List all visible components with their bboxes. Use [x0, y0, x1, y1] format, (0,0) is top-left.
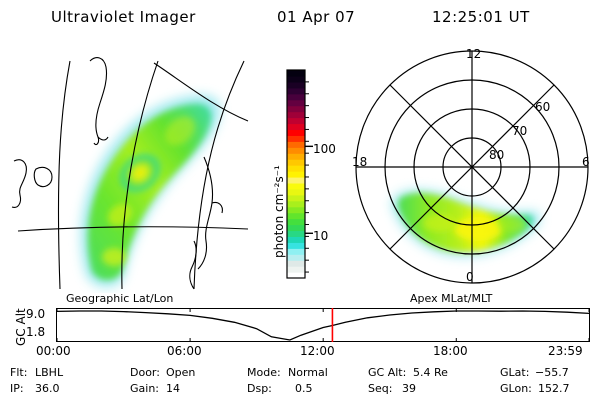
- colorbar-gradient: [287, 70, 305, 279]
- geographic-image-panel[interactable]: [8, 45, 256, 293]
- orbit-x-tick-4: 23:59: [548, 344, 583, 358]
- status-gain-label: Gain:: [130, 382, 159, 395]
- status-dsp-value: 0.5: [295, 382, 313, 395]
- status-door-value: Open: [166, 366, 195, 379]
- mlt-label-0: 0: [466, 270, 474, 284]
- mlat-label-80: 80: [489, 148, 504, 162]
- status-glat-label: GLat:: [500, 366, 529, 379]
- status-gcalt-label: GC Alt:: [368, 366, 406, 379]
- status-ip-value: 36.0: [35, 382, 60, 395]
- status-door-label: Door:: [130, 366, 160, 379]
- orbit-altitude-plot[interactable]: [56, 308, 590, 342]
- status-ip-label: IP:: [10, 382, 24, 395]
- status-seq-value: 39: [402, 382, 416, 395]
- status-mode-value: Normal: [288, 366, 328, 379]
- orbit-x-tick-3: 18:00: [433, 344, 468, 358]
- page-title: Ultraviolet Imager: [51, 8, 196, 26]
- orbit-x-tick-2: 12:00: [300, 344, 335, 358]
- status-flt-label: Flt:: [10, 366, 27, 379]
- orbit-y-tick-max: 9.0: [26, 307, 45, 321]
- colorbar-minor-ticks: [305, 82, 309, 272]
- right-panel-caption: Apex MLat/MLT: [410, 292, 492, 305]
- orbit-x-tick-0: 00:00: [36, 344, 71, 358]
- status-seq-label: Seq:: [368, 382, 392, 395]
- orbit-y-tick-min: 1.8: [26, 325, 45, 339]
- uvi-summary-screen: Ultraviolet Imager 01 Apr 07 12:25:01 UT: [0, 0, 600, 400]
- colorbar-tick-label-10: 10: [313, 229, 328, 243]
- observation-time: 12:25:01 UT: [432, 8, 530, 26]
- colorbar-tick-label-100: 100: [313, 142, 336, 156]
- status-glon-label: GLon:: [500, 382, 532, 395]
- polar-grid: [356, 51, 588, 283]
- colorbar-axis-label: photon cm⁻²s⁻¹: [272, 165, 286, 258]
- mlt-label-18: 18: [352, 155, 367, 169]
- colorbar-major-ticks: [305, 146, 313, 233]
- mlt-label-12: 12: [466, 47, 481, 61]
- mlt-label-6: 6: [582, 155, 590, 169]
- status-glat-value: −55.7: [535, 366, 569, 379]
- status-glon-value: 152.7: [538, 382, 570, 395]
- status-gcalt-value: 5.4 Re: [413, 366, 448, 379]
- status-dsp-label: Dsp:: [247, 382, 272, 395]
- observation-date: 01 Apr 07: [277, 8, 355, 26]
- apex-polar-panel[interactable]: [352, 45, 596, 293]
- left-panel-caption: Geographic Lat/Lon: [66, 292, 173, 305]
- status-mode-label: Mode:: [247, 366, 281, 379]
- mlat-label-70: 70: [512, 124, 527, 138]
- orbit-x-tick-1: 06:00: [167, 344, 202, 358]
- status-gain-value: 14: [166, 382, 180, 395]
- mlat-label-60: 60: [535, 100, 550, 114]
- status-flt-value: LBHL: [35, 366, 63, 379]
